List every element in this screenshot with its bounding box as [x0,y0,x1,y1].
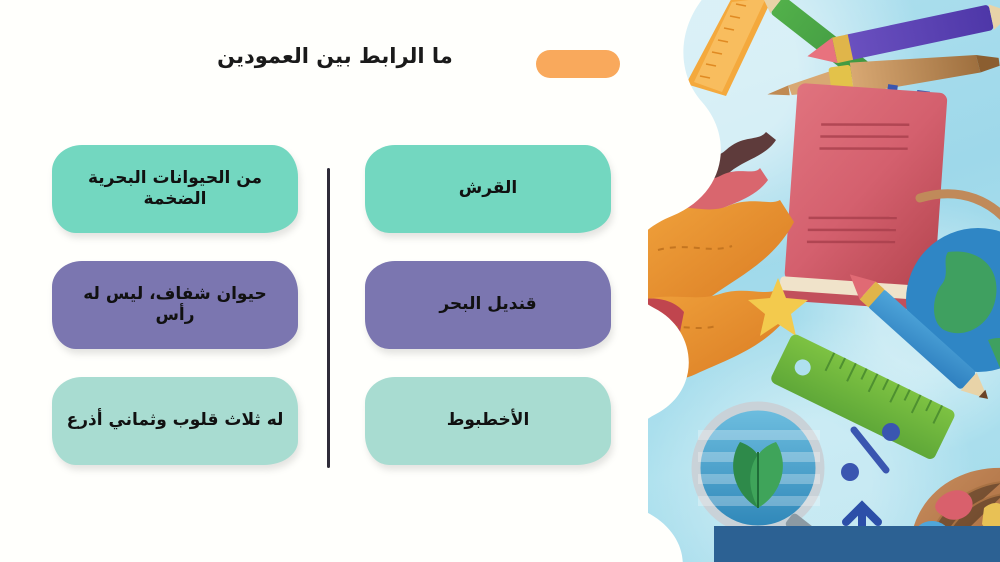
description-card-1[interactable]: من الحيوانات البحرية الضخمة [52,145,298,233]
description-card-1-label: من الحيوانات البحرية الضخمة [64,168,286,211]
animal-card-1-label: القرش [377,178,599,199]
magnifying-glass-leaf-icon [696,406,821,546]
blue-bottom-bar [714,526,1000,562]
description-card-2-label: حيوان شفاف، ليس له رأس [64,284,286,327]
illustration-objects: Abc [648,0,1000,562]
description-card-2[interactable]: حيوان شفاف، ليس له رأس [52,261,298,349]
description-card-3[interactable]: له ثلاث قلوب وثماني أذرع [52,377,298,465]
slide-canvas: ما الرابط بين العمودين القرش قنديل البحر… [0,0,1000,562]
column-descriptions: من الحيوانات البحرية الضخمة حيوان شفاف، … [52,145,298,465]
orange-pill-decoration [536,50,620,78]
animal-card-3[interactable]: الأخطبوط [365,377,611,465]
animal-card-2[interactable]: قنديل البحر [365,261,611,349]
percent-symbol-icon [841,423,900,481]
school-supplies-illustration: Abc [648,0,1000,562]
animal-card-3-label: الأخطبوط [377,410,599,431]
column-divider [327,168,330,468]
animal-card-2-label: قنديل البحر [377,294,599,315]
description-card-3-label: له ثلاث قلوب وثماني أذرع [64,410,286,431]
orange-shoe-icon [648,132,794,386]
page-title: ما الرابط بين العمودين [160,44,510,69]
column-animals: القرش قنديل البحر الأخطبوط [365,145,611,465]
animal-card-1[interactable]: القرش [365,145,611,233]
orange-ruler-icon [686,0,778,96]
